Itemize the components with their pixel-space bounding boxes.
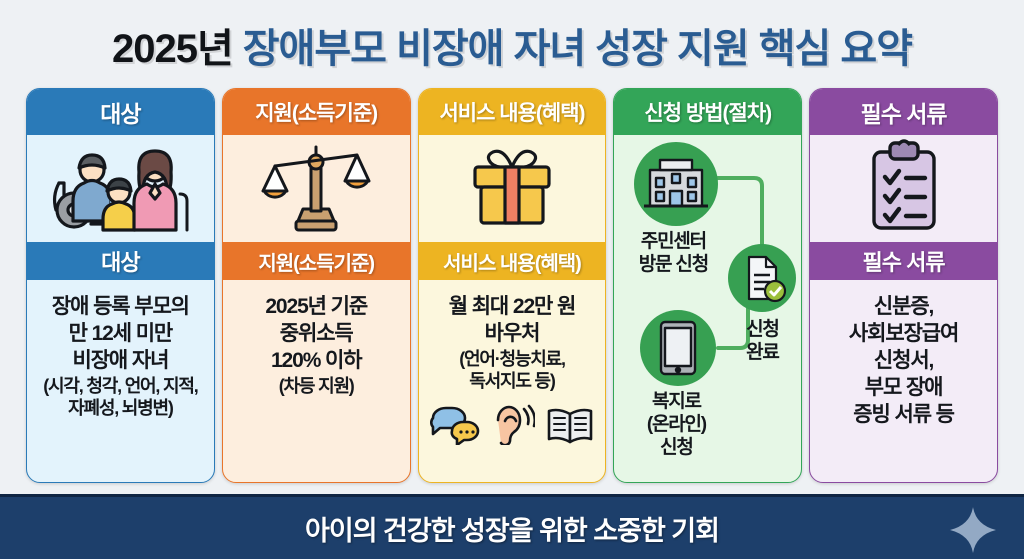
card-documents-line-4: 부모 장애	[865, 375, 943, 402]
card-documents[interactable]: 필수 서류	[809, 88, 998, 483]
card-target-line-3: 비장애 자녀	[72, 348, 168, 375]
infographic-page: 2025년 장애부모 비장애 자녀 성장 지원 핵심 요약 대상	[0, 0, 1024, 559]
card-service-header: 서비스 내용(혜택)	[419, 89, 606, 135]
card-service-subline-1: (언어·청능치료,	[459, 348, 565, 371]
card-documents-icon-pane	[810, 135, 997, 242]
card-target-header: 대상	[27, 89, 214, 135]
page-title-year: 2025년	[112, 16, 233, 74]
flow-label-offline-line1: 주민센터	[614, 231, 732, 254]
flow-label-offline-line2: 방문 신청	[614, 254, 732, 277]
card-target-header2: 대상	[27, 242, 214, 280]
flow-label-done-line2: 완료	[718, 342, 802, 365]
card-support-line-3: 120% 이하	[271, 348, 361, 375]
card-support-subline-1: (차등 지원)	[279, 375, 354, 398]
card-support-header2: 지원(소득기준)	[223, 242, 410, 280]
card-support-body: 2025년 기준 중위소득 120% 이하 (차등 지원)	[223, 280, 410, 482]
card-service-icon-row	[429, 403, 595, 450]
document-check-icon	[728, 244, 796, 317]
card-service-body: 월 최대 22만 원 바우처 (언어·청능치료, 독서지도 등)	[419, 280, 606, 482]
card-target-subline-2: 자폐성, 뇌병변)	[68, 397, 173, 420]
card-target-body: 장애 등록 부모의 만 12세 미만 비장애 자녀 (시각, 청각, 언어, 지…	[27, 280, 214, 482]
card-support-line-2: 중위소득	[280, 321, 353, 348]
tablet-online-icon	[640, 310, 716, 391]
flow-label-online: 복지로 (온라인) 신청	[614, 391, 738, 459]
card-documents-line-2: 사회보장급여	[849, 321, 958, 348]
flow-label-done-line1: 신청	[718, 319, 802, 342]
card-service-header2: 서비스 내용(혜택)	[419, 242, 606, 280]
card-documents-header: 필수 서류	[810, 89, 997, 135]
footer-text: 아이의 건강한 성장을 위한 소중한 기회	[305, 509, 719, 548]
card-support-icon-pane	[223, 135, 410, 242]
card-support-line-1: 2025년 기준	[265, 294, 367, 321]
card-target-subline-1: (시각, 청각, 언어, 지적,	[43, 375, 197, 398]
card-service-line-2: 바우처	[485, 321, 540, 348]
card-grid: 대상	[26, 88, 998, 483]
card-service-subline-2: 독서지도 등)	[469, 370, 554, 393]
card-apply-flow: 주민센터 방문 신청 복지로 (온라	[614, 135, 801, 482]
card-documents-line-1: 신분증,	[874, 294, 933, 321]
card-documents-line-3: 신청서,	[874, 348, 933, 375]
flow-label-online-line1: 복지로	[614, 391, 738, 414]
flow-label-done: 신청 완료	[718, 319, 802, 365]
flow-label-online-line2: (온라인)	[614, 414, 738, 437]
community-center-building-icon	[634, 142, 718, 231]
flow-label-offline: 주민센터 방문 신청	[614, 231, 732, 277]
flow-label-online-line3: 신청	[614, 437, 738, 460]
card-support[interactable]: 지원(소득기준)	[222, 88, 411, 483]
gift-box-icon	[462, 140, 562, 237]
family-wheelchair-icon	[44, 138, 196, 239]
page-title-rest: 장애부모 비장애 자녀 성장 지원 핵심 요약	[243, 16, 912, 74]
balance-scale-icon	[261, 138, 371, 239]
card-service-line-1: 월 최대 22만 원	[449, 294, 575, 321]
card-support-header: 지원(소득기준)	[223, 89, 410, 135]
card-target-line-2: 만 12세 미만	[69, 321, 173, 348]
four-point-star-icon	[950, 507, 996, 558]
card-target-line-1: 장애 등록 부모의	[52, 294, 189, 321]
card-apply-header: 신청 방법(절차)	[614, 89, 801, 135]
card-documents-line-5: 증빙 서류 등	[853, 402, 954, 429]
ear-hearing-icon	[491, 403, 535, 450]
open-book-icon	[545, 405, 595, 450]
card-target-icon-pane	[27, 135, 214, 242]
card-service-icon-pane	[419, 135, 606, 242]
clipboard-checklist-icon	[860, 138, 948, 239]
card-service[interactable]: 서비스 내용(혜택) 서비스 내용(혜택) 월	[418, 88, 607, 483]
speech-bubbles-icon	[429, 405, 481, 450]
page-title: 2025년 장애부모 비장애 자녀 성장 지원 핵심 요약	[0, 16, 1024, 74]
card-documents-body: 신분증, 사회보장급여 신청서, 부모 장애 증빙 서류 등	[810, 280, 997, 482]
footer-banner: 아이의 건강한 성장을 위한 소중한 기회	[0, 497, 1024, 559]
card-documents-header2: 필수 서류	[810, 242, 997, 280]
card-apply[interactable]: 신청 방법(절차)	[613, 88, 802, 483]
card-target[interactable]: 대상	[26, 88, 215, 483]
